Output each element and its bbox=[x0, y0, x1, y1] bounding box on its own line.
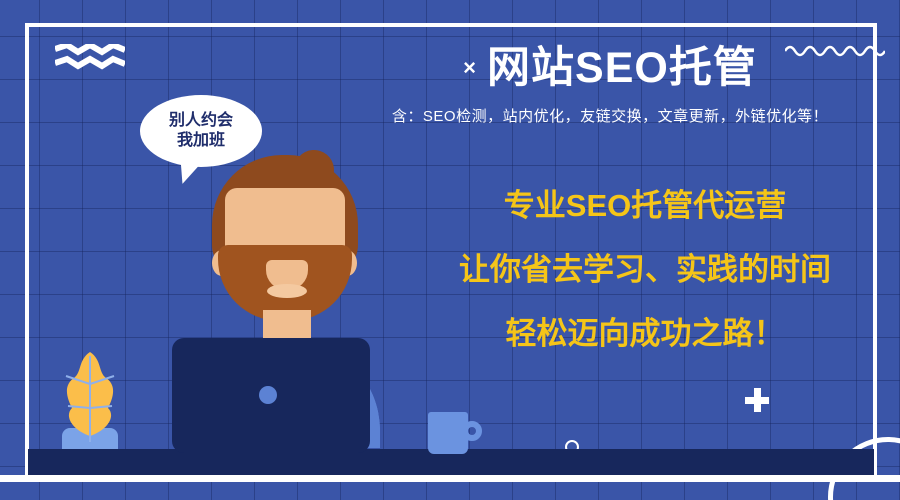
speech-bubble-line-2: 我加班 bbox=[177, 131, 225, 151]
laptop-logo-icon bbox=[259, 386, 277, 404]
page-subtitle: 含：SEO检测，站内优化，友链交换，文章更新，外链优化等！ bbox=[340, 105, 880, 126]
poster-canvas: ×网站SEO托管 含：SEO检测，站内优化，友链交换，文章更新，外链优化等！ 专… bbox=[0, 0, 900, 500]
speech-bubble: 别人约会 我加班 bbox=[140, 95, 262, 167]
page-title: ×网站SEO托管 bbox=[340, 46, 880, 91]
plus-icon bbox=[745, 388, 769, 412]
plant-leaf-icon bbox=[50, 350, 130, 450]
slogan-line: 专业SEO托管代运营 bbox=[400, 190, 890, 221]
mouth-shape bbox=[267, 284, 307, 298]
slogan-line: 让你省去学习、实践的时间 bbox=[400, 254, 890, 285]
slogan-list: 专业SEO托管代运营 让你省去学习、实践的时间 轻松迈向成功之路！ bbox=[400, 190, 890, 349]
title-bullet-icon: × bbox=[463, 55, 477, 80]
wave-left-icon bbox=[55, 44, 125, 70]
slogan-line: 轻松迈向成功之路！ bbox=[400, 318, 890, 349]
headline-block: ×网站SEO托管 含：SEO检测，站内优化，友链交换，文章更新，外链优化等！ bbox=[340, 46, 880, 126]
mug-body-shape bbox=[428, 412, 468, 454]
speech-bubble-line-1: 别人约会 bbox=[169, 111, 233, 131]
title-text: 网站SEO托管 bbox=[487, 44, 757, 92]
desk-front-edge bbox=[0, 475, 900, 482]
